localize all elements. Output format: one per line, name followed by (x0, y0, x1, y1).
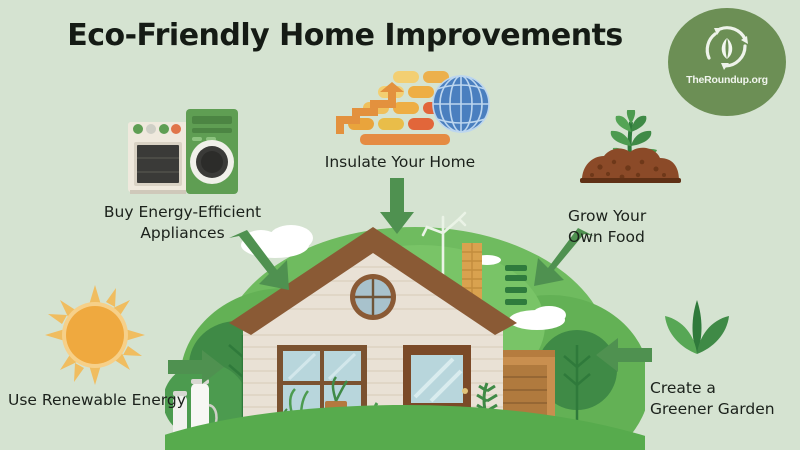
infographic-canvas: Eco-Friendly Home Improvements TheRoundu… (0, 0, 800, 450)
label-insulate-your-home: Insulate Your Home (305, 152, 495, 173)
label-line-2: Appliances (95, 223, 270, 244)
leaves-plant-icon (655, 290, 740, 365)
label-buy-energy-efficient-appliances: Buy Energy-Efficient Appliances (95, 202, 270, 244)
arrow-left-icon (594, 338, 652, 377)
label-line-2: Own Food (568, 227, 688, 248)
soil-seedling-icon (578, 110, 683, 190)
logo[interactable]: TheRoundup.org (668, 8, 786, 116)
arrow-right-icon (168, 350, 226, 389)
sun-icon (45, 285, 145, 390)
label-grow-your-own-food: Grow Your Own Food (568, 206, 688, 248)
label-line-1: Insulate Your Home (305, 152, 495, 173)
label-create-a-greener-garden: Create a Greener Garden (650, 378, 800, 420)
logo-text: TheRoundup.org (668, 74, 786, 86)
recycle-leaf-icon (695, 20, 759, 80)
label-line-2: Greener Garden (650, 399, 800, 420)
arrow-down-icon (380, 178, 414, 241)
label-line-1: Use Renewable Energy (8, 390, 208, 411)
appliances-icon (124, 104, 244, 204)
label-use-renewable-energy: Use Renewable Energy (8, 390, 208, 411)
label-line-1: Create a (650, 378, 800, 399)
label-line-1: Buy Energy-Efficient (95, 202, 270, 223)
label-line-1: Grow Your (568, 206, 688, 227)
page-title: Eco-Friendly Home Improvements (0, 18, 690, 53)
insulation-energy-globe-icon (330, 56, 490, 151)
